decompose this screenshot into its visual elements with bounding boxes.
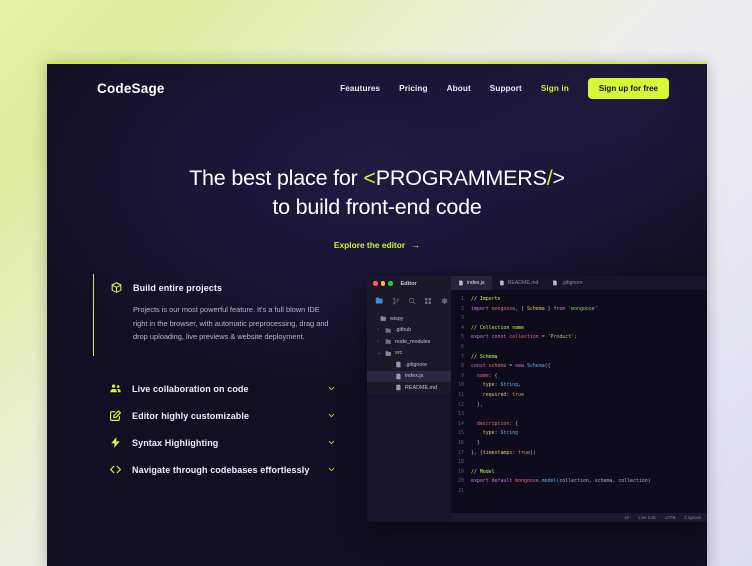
code-token: =	[506, 363, 515, 369]
code-token: new	[515, 363, 527, 369]
code-line: 8const schema = new Schema({	[451, 362, 707, 372]
status-item[interactable]: LF	[625, 515, 630, 520]
code-line: 18	[451, 458, 707, 468]
code-line: 17}, {timestamps: true})	[451, 449, 707, 459]
feature-title: Syntax Highlighting	[132, 438, 218, 448]
code-line: 6	[451, 343, 707, 353]
tree-item[interactable]: README.md	[367, 382, 451, 394]
extensions-icon[interactable]	[424, 297, 432, 305]
sidebar-empty-area	[367, 394, 451, 523]
line-number: 13	[451, 410, 471, 420]
nav-link-sign-in[interactable]: Sign in	[541, 84, 569, 93]
code-token: type	[483, 430, 495, 436]
code-token: from	[553, 306, 568, 312]
status-item[interactable]: 2 spaces	[684, 515, 701, 520]
code-text: export const collection = 'Product';	[471, 333, 577, 343]
code-brackets-icon	[109, 463, 122, 476]
code-text: description: {	[471, 420, 518, 430]
line-number: 9	[451, 372, 471, 382]
line-number: 20	[451, 477, 471, 487]
code-text: name: {	[471, 372, 498, 382]
file-icon	[458, 280, 464, 286]
feature-header[interactable]: Live collaboration on code	[109, 375, 336, 402]
feature-header[interactable]: Syntax Highlighting	[109, 429, 336, 456]
features-accordion: Build entire projectsProjects is our mos…	[93, 274, 336, 483]
tree-item-label: src	[395, 350, 402, 356]
code-text: }	[471, 439, 480, 449]
line-number: 2	[451, 305, 471, 315]
brand-logo[interactable]: CodeSage	[97, 81, 165, 96]
line-number: 11	[451, 391, 471, 401]
nav-link-pricing[interactable]: Pricing	[399, 84, 427, 93]
code-text: type: String	[471, 429, 518, 439]
code-token: collection	[509, 334, 538, 340]
code-token: 'Product'	[548, 334, 575, 340]
code-editor-window: Editor wispy›.github›node_modules⌄src.gi…	[367, 276, 707, 522]
tree-item-label: index.js	[405, 373, 423, 379]
source-control-icon[interactable]	[392, 297, 400, 305]
code-line: 7// Schema	[451, 353, 707, 363]
line-number: 3	[451, 314, 471, 324]
file-icon	[395, 384, 402, 391]
code-token: (collection, schema, collection)	[556, 478, 650, 484]
code-token: // Schema	[471, 354, 498, 360]
code-token: }, {	[471, 450, 483, 456]
code-token: =	[539, 334, 548, 340]
hero-angle-close: >	[553, 166, 565, 190]
nav-link-support[interactable]: Support	[490, 84, 522, 93]
editor-tab[interactable]: index.js	[451, 276, 492, 290]
code-text: // Schema	[471, 353, 498, 363]
code-token: Schema	[527, 306, 545, 312]
nav-link-about[interactable]: About	[447, 84, 471, 93]
feature-header[interactable]: Navigate through codebases effortlessly	[109, 456, 336, 483]
tree-item-label: wispy	[390, 316, 403, 322]
folder-open-icon	[380, 315, 387, 322]
tree-item[interactable]: wispy	[367, 313, 451, 325]
code-token: required	[483, 392, 507, 398]
code-text: required: true	[471, 391, 524, 401]
feature-header[interactable]: Editor highly customizable	[109, 402, 336, 429]
code-token: type	[483, 382, 495, 388]
code-token: , {	[515, 306, 527, 312]
code-token: true	[512, 392, 524, 398]
tree-toggle-icon[interactable]: ⌄	[377, 350, 382, 356]
tree-item[interactable]: ›node_modules	[367, 336, 451, 348]
feature-header[interactable]: Build entire projects	[110, 274, 336, 301]
feature-title: Navigate through codebases effortlessly	[132, 465, 309, 475]
tree-toggle-icon[interactable]: ›	[377, 339, 382, 345]
tree-item-label: .github	[395, 327, 411, 333]
editor-activity-bar	[367, 291, 451, 311]
code-token: name	[477, 373, 489, 379]
code-line: 10 type: String,	[451, 381, 707, 391]
editor-window-title: Editor	[401, 281, 417, 287]
edit-square-icon	[109, 409, 122, 422]
code-token: // Model	[471, 469, 495, 475]
hero-keyword: PROGRAMMERS	[376, 166, 547, 190]
file-icon	[552, 280, 558, 286]
bolt-icon	[109, 436, 122, 449]
file-icon	[395, 361, 402, 368]
code-token: },	[471, 402, 483, 408]
feature-item[interactable]: Build entire projectsProjects is our mos…	[93, 274, 336, 356]
code-line: 14 description: {	[451, 420, 707, 430]
code-token: ({	[545, 363, 551, 369]
code-token: // Imports	[471, 296, 500, 302]
editor-tab-label: README.md	[508, 280, 539, 286]
code-line: 5export const collection = 'Product';	[451, 333, 707, 343]
line-number: 12	[451, 401, 471, 411]
code-token: }	[471, 440, 480, 446]
line-number: 15	[451, 429, 471, 439]
tree-item-label: .gitignore	[405, 362, 427, 368]
editor-status-bar: LFLine 5:26UTF82 spaces	[451, 513, 707, 522]
code-area[interactable]: 1// Imports2import mongoose, { Schema } …	[451, 290, 707, 513]
line-number: 10	[451, 381, 471, 391]
people-icon	[109, 382, 122, 395]
feature-body: Projects is our most powerful feature. I…	[110, 301, 335, 356]
code-line: 15 type: String	[451, 429, 707, 439]
tree-item-label: node_modules	[395, 339, 430, 345]
code-token: export const	[471, 334, 509, 340]
code-line: 1// Imports	[451, 295, 707, 305]
box-icon	[110, 281, 123, 294]
explorer-icon[interactable]	[375, 296, 384, 305]
editor-tab-label: index.js	[467, 280, 485, 286]
editor-tab-label: .gitignore	[561, 280, 582, 286]
code-line: 12 },	[451, 401, 707, 411]
maximize-window-icon[interactable]	[388, 281, 393, 286]
feature-item[interactable]: Live collaboration on code	[93, 375, 336, 402]
code-token: ,	[518, 382, 521, 388]
file-tree: wispy›.github›node_modules⌄src.gitignore…	[367, 311, 451, 394]
top-navbar: CodeSage FeauturesPricingAboutSupportSig…	[47, 64, 707, 112]
feature-title: Editor highly customizable	[132, 411, 249, 421]
tree-item[interactable]: index.js	[367, 371, 451, 383]
feature-item[interactable]: Navigate through codebases effortlessly	[93, 456, 336, 483]
code-line: 9 name: {	[451, 372, 707, 382]
status-item[interactable]: UTF8	[665, 515, 675, 520]
feature-title: Build entire projects	[133, 283, 222, 293]
arrow-right-icon: →	[411, 241, 420, 250]
tree-item[interactable]: ⌄src	[367, 348, 451, 360]
code-token	[471, 392, 483, 398]
close-window-icon[interactable]	[373, 281, 378, 286]
tree-item[interactable]: ›.github	[367, 325, 451, 337]
line-number: 18	[451, 458, 471, 468]
page-title: The best place for <PROGRAMMERS/> to bui…	[47, 164, 707, 222]
folder-icon	[385, 338, 392, 345]
code-text: export default mongoose.model(collection…	[471, 477, 651, 487]
line-number: 5	[451, 333, 471, 343]
code-token: Schema	[527, 363, 545, 369]
code-line: 13	[451, 410, 707, 420]
code-token: schema	[489, 363, 507, 369]
code-line: 16 }	[451, 439, 707, 449]
code-token: mongoose	[515, 478, 539, 484]
chevron-down-icon[interactable]	[327, 411, 336, 420]
line-number: 14	[451, 420, 471, 430]
code-token: mongoose	[492, 306, 516, 312]
code-line: 11 required: true	[451, 391, 707, 401]
code-token: : {	[489, 373, 498, 379]
line-number: 17	[451, 449, 471, 459]
code-line: 20export default mongoose.model(collecti…	[451, 477, 707, 487]
hero-angle-open: <	[363, 166, 375, 190]
explore-editor-label: Explore the editor	[334, 240, 405, 250]
tree-item[interactable]: .gitignore	[367, 359, 451, 371]
explore-editor-link[interactable]: Explore the editor →	[334, 240, 420, 250]
code-token: String	[500, 430, 518, 436]
editor-titlebar: Editor	[367, 276, 451, 291]
settings-gear-icon[interactable]	[440, 297, 448, 305]
folder-open-icon	[385, 350, 392, 357]
chevron-down-icon[interactable]	[327, 438, 336, 447]
editor-tab[interactable]: .gitignore	[545, 276, 589, 290]
code-token: ;	[574, 334, 577, 340]
code-token: : {	[509, 421, 518, 427]
code-token: 'mongoose'	[568, 306, 597, 312]
search-icon[interactable]	[408, 297, 416, 305]
code-text: const schema = new Schema({	[471, 362, 551, 372]
line-number: 21	[451, 487, 471, 497]
hero-line1-prefix: The best place for	[189, 166, 363, 190]
code-text: }, {timestamps: true})	[471, 449, 536, 459]
code-line: 21	[451, 487, 707, 497]
code-text: // Model	[471, 468, 495, 478]
code-token: model	[542, 478, 557, 484]
code-token: export default	[471, 478, 515, 484]
nav-links: FeauturesPricingAboutSupportSign inSign …	[340, 78, 669, 99]
code-token: timestamps	[483, 450, 512, 456]
spacer	[93, 356, 336, 375]
hero-card: CodeSage FeauturesPricingAboutSupportSig…	[47, 62, 707, 566]
feature-item[interactable]: Editor highly customizable	[93, 402, 336, 429]
nav-link-feautures[interactable]: Feautures	[340, 84, 380, 93]
code-text: // Collection name	[471, 324, 524, 334]
line-number: 8	[451, 362, 471, 372]
folder-icon	[385, 327, 392, 334]
code-line: 3	[451, 314, 707, 324]
code-token: const	[471, 363, 489, 369]
code-token: description	[477, 421, 509, 427]
line-number: 16	[451, 439, 471, 449]
minimize-window-icon[interactable]	[381, 281, 386, 286]
code-text: import mongoose, { Schema } from 'mongoo…	[471, 305, 598, 315]
editor-tab[interactable]: README.md	[492, 276, 546, 290]
line-number: 4	[451, 324, 471, 334]
code-token: })	[530, 450, 536, 456]
code-line: 4// Collection name	[451, 324, 707, 334]
line-number: 1	[451, 295, 471, 305]
code-token: import	[471, 306, 492, 312]
tree-item-label: README.md	[405, 385, 437, 391]
code-token	[471, 430, 483, 436]
code-token: true	[518, 450, 530, 456]
editor-tabs: index.jsREADME.md.gitignore	[451, 276, 707, 290]
chevron-down-icon[interactable]	[327, 465, 336, 474]
line-number: 7	[451, 353, 471, 363]
tree-toggle-icon[interactable]: ›	[377, 327, 382, 333]
hero-section: The best place for <PROGRAMMERS/> to bui…	[47, 164, 707, 253]
code-token: // Collection name	[471, 325, 524, 331]
code-token: String	[500, 382, 518, 388]
feature-title: Live collaboration on code	[132, 384, 249, 394]
code-line: 2import mongoose, { Schema } from 'mongo…	[451, 305, 707, 315]
code-text: type: String,	[471, 381, 521, 391]
code-text: // Imports	[471, 295, 500, 305]
code-line: 19// Model	[451, 468, 707, 478]
file-icon	[499, 280, 505, 286]
file-icon	[395, 373, 402, 380]
line-number: 6	[451, 343, 471, 353]
editor-main: index.jsREADME.md.gitignore 1// Imports2…	[451, 276, 707, 522]
feature-item[interactable]: Syntax Highlighting	[93, 429, 336, 456]
editor-sidebar: Editor wispy›.github›node_modules⌄src.gi…	[367, 276, 451, 522]
chevron-down-icon[interactable]	[327, 384, 336, 393]
signup-button[interactable]: Sign up for free	[588, 78, 669, 99]
code-text: },	[471, 401, 483, 411]
code-token	[471, 382, 483, 388]
hero-line2: to build front-end code	[272, 195, 481, 219]
line-number: 19	[451, 468, 471, 478]
status-item[interactable]: Line 5:26	[639, 515, 656, 520]
